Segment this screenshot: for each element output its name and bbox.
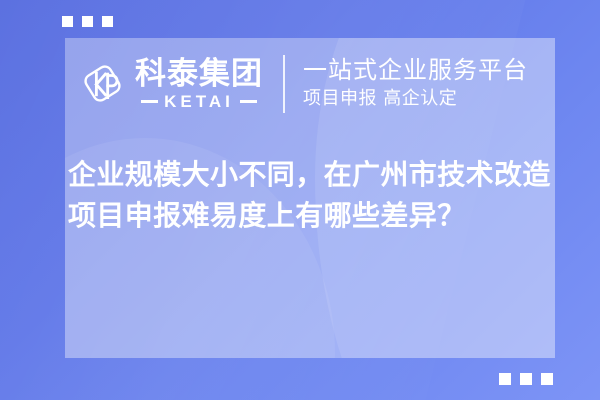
brand-wordmark: 科泰集团 KETAI [135,58,263,110]
brand-name-cn: 科泰集团 [135,58,263,90]
ketai-logo-icon [79,60,126,107]
slogan-block: 一站式企业服务平台 项目申报 高企认定 [303,57,528,111]
content-card: 科泰集团 KETAI 一站式企业服务平台 项目申报 高企认定 企业规模大小不同，… [65,38,555,358]
dot-square [541,373,553,385]
decorative-dots-bottom-right [499,373,553,385]
slogan-secondary: 项目申报 高企认定 [303,87,528,110]
dot-square [520,373,532,385]
slogan-primary: 一站式企业服务平台 [303,57,528,85]
vertical-divider [283,55,285,113]
brand-name-en-row: KETAI [141,93,257,110]
brand-header: 科泰集团 KETAI 一站式企业服务平台 项目申报 高企认定 [65,38,555,129]
article-title: 企业规模大小不同，在广州市技术改造项目申报难易度上有哪些差异？ [68,154,555,237]
brand-name-en: KETAI [164,93,234,110]
dot-square [82,16,93,27]
brand-rule-left-icon [141,100,158,103]
dot-square [102,16,113,27]
brand-rule-right-icon [240,100,257,103]
dot-square [499,373,511,385]
article-banner: 科泰集团 KETAI 一站式企业服务平台 项目申报 高企认定 企业规模大小不同，… [0,0,600,400]
dot-square [62,16,73,27]
decorative-dots-top-left [62,16,113,27]
